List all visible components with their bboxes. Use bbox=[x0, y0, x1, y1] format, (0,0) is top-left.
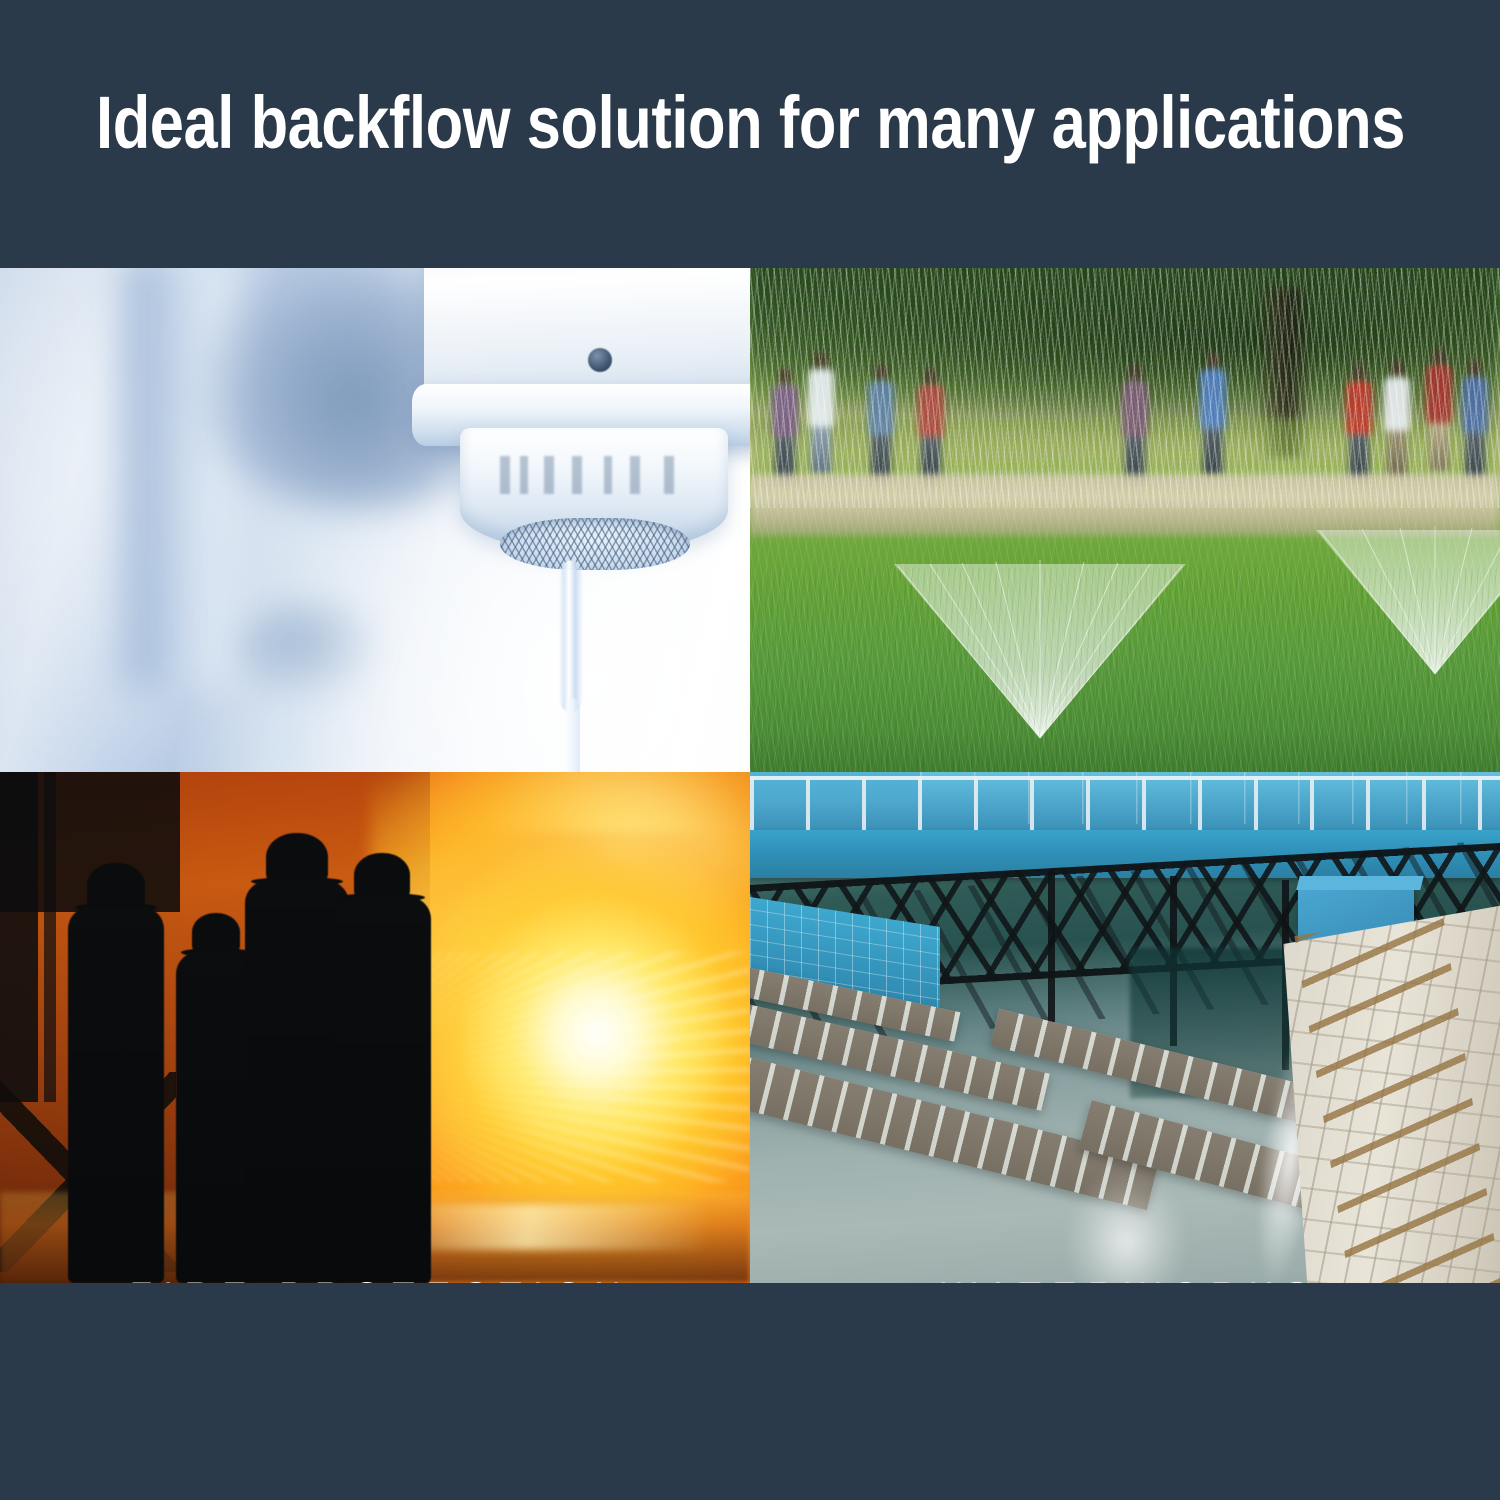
poster: Ideal backflow solution for many applica… bbox=[0, 0, 1500, 1500]
tile-waterworks: WATERWORKS bbox=[750, 772, 1500, 1283]
page-title: Ideal backflow solution for many applica… bbox=[96, 86, 1405, 160]
water-stream-lower bbox=[565, 698, 580, 772]
tile-label-plumbing: PLUMBING bbox=[0, 771, 750, 772]
truss-post bbox=[1048, 872, 1055, 1022]
tile-label-fire-protection: FIRE PROTECTION bbox=[0, 1275, 750, 1283]
application-image-grid: PLUMBING bbox=[0, 268, 1500, 1283]
aerator-mesh-screen bbox=[500, 518, 690, 570]
tile-label-waterworks: WATERWORKS bbox=[750, 1275, 1500, 1283]
tile-label-irrigation: IRRIGATION bbox=[750, 771, 1500, 772]
aerator-engraving bbox=[492, 456, 692, 494]
firefighter-silhouette bbox=[322, 853, 442, 1283]
water-overflow-foam bbox=[1066, 1172, 1186, 1283]
headline-bar: Ideal backflow solution for many applica… bbox=[0, 0, 1500, 268]
firefighter-silhouette bbox=[56, 863, 176, 1283]
tile-irrigation: IRRIGATION bbox=[750, 268, 1500, 772]
equipment-box-top bbox=[1296, 876, 1423, 890]
water-stream bbox=[559, 560, 583, 712]
handrail-bar bbox=[750, 776, 1500, 780]
footer: ZURN ® bbox=[0, 1283, 1500, 1500]
faucet-screw bbox=[588, 348, 612, 372]
tile-fire-protection: FIRE PROTECTION bbox=[0, 772, 750, 1283]
tile-plumbing: PLUMBING bbox=[0, 268, 750, 772]
blurred-highlight bbox=[236, 598, 386, 708]
handrail-posts bbox=[750, 778, 1500, 834]
mist-overlay bbox=[750, 268, 1500, 772]
